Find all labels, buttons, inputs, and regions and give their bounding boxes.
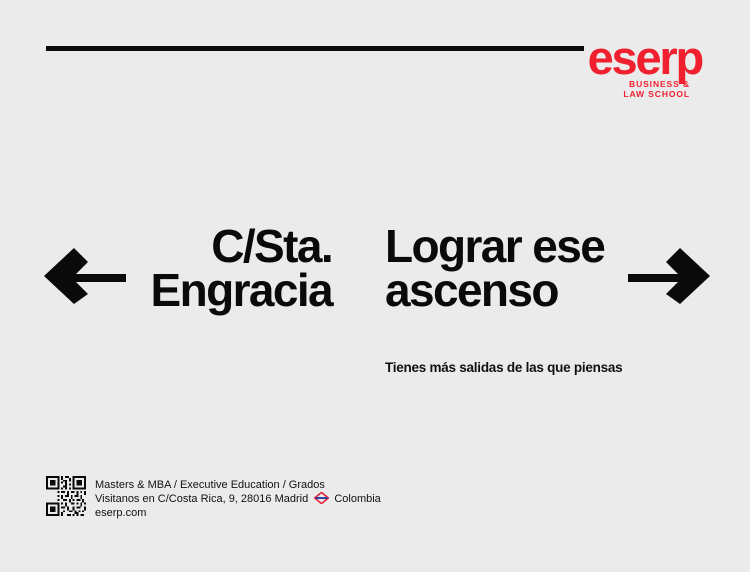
brand-wordmark: eserp (584, 37, 702, 79)
footer-line-address: Visitanos en C/Costa Rica, 9, 28016 Madr… (95, 492, 381, 506)
header-divider-rule (46, 46, 584, 51)
qr-code (46, 476, 86, 516)
footer-text: Masters & MBA / Executive Education / Gr… (95, 476, 381, 521)
brand-tagline-line-2: LAW SCHOOL (623, 89, 690, 99)
footer-line-programs: Masters & MBA / Executive Education / Gr… (95, 478, 381, 492)
madrid-metro-icon (314, 492, 329, 504)
subheadline: Tienes más salidas de las que piensas (385, 360, 622, 375)
arrow-right-icon (628, 248, 710, 304)
footer-address-text: Visitanos en C/Costa Rica, 9, 28016 Madr… (95, 493, 308, 505)
poster-canvas: eserp BUSINESS & LAW SCHOOL C/Sta. Engra… (0, 0, 750, 572)
headline-left-line-2: Engracia (150, 264, 332, 316)
headline-right-line-2: ascenso (385, 264, 558, 316)
headline-right: Lograr ese ascenso (385, 224, 625, 312)
footer-metro-station: Colombia (334, 493, 380, 505)
brand-tagline-line-1: BUSINESS & (629, 79, 690, 89)
brand-logo: eserp BUSINESS & LAW SCHOOL (584, 37, 702, 100)
footer-line-website: eserp.com (95, 506, 381, 520)
headline-left: C/Sta. Engracia (110, 224, 332, 312)
footer: Masters & MBA / Executive Education / Gr… (46, 476, 381, 521)
